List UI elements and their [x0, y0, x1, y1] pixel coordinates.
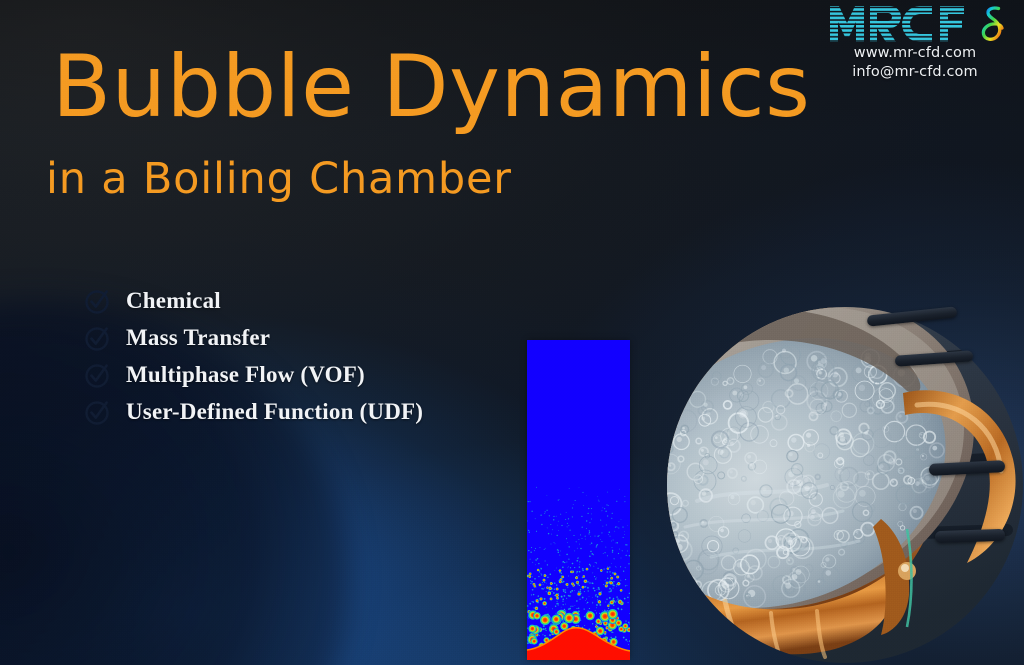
list-item[interactable]: Chemical	[84, 283, 423, 319]
check-circle-icon	[84, 398, 112, 426]
delta-glyph-icon	[980, 5, 1010, 43]
list-item-label: Mass Transfer	[126, 325, 270, 351]
list-item-label: Chemical	[126, 288, 221, 314]
list-item[interactable]: User-Defined Function (UDF)	[84, 394, 423, 430]
list-item-label: User-Defined Function (UDF)	[126, 399, 423, 425]
list-item[interactable]: Mass Transfer	[84, 320, 423, 356]
check-circle-icon	[84, 361, 112, 389]
page-subtitle: in a Boiling Chamber	[46, 158, 512, 201]
website-link[interactable]: www.mr-cfd.com	[820, 44, 1010, 63]
vof-contour-panel	[527, 340, 630, 660]
brand-logo-block[interactable]: www.mr-cfd.com info@mr-cfd.com	[820, 4, 1010, 82]
boiling-pot-photo	[667, 305, 1023, 665]
stove-grate-bar	[935, 529, 1005, 543]
mr-cf-wordmark-icon	[828, 4, 978, 44]
logo-mark	[820, 4, 1010, 44]
check-circle-icon	[84, 287, 112, 315]
list-item[interactable]: Multiphase Flow (VOF)	[84, 357, 423, 393]
page-title: Bubble Dynamics	[52, 44, 810, 130]
email-link[interactable]: info@mr-cfd.com	[820, 63, 1010, 82]
feature-list: Chemical Mass Transfer Multiphase Flow (…	[84, 283, 423, 430]
vof-contour-plot	[527, 340, 630, 660]
list-item-label: Multiphase Flow (VOF)	[126, 362, 365, 388]
check-circle-icon	[84, 324, 112, 352]
poster-canvas: Bubble Dynamics in a Boiling Chamber Che…	[0, 0, 1024, 665]
